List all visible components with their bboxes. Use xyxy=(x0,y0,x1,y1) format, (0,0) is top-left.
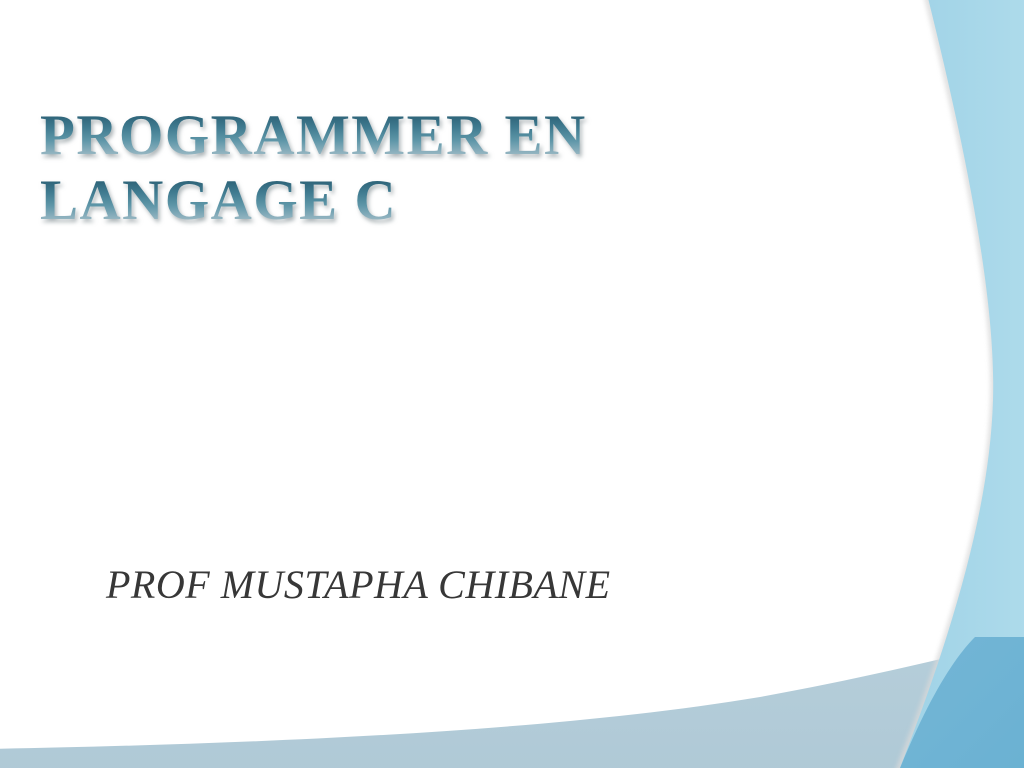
title-slide: PROGRAMMER EN LANGAGE C PROF MUSTAPHA CH… xyxy=(0,0,1024,768)
right-curved-band xyxy=(892,0,1024,768)
page-title: PROGRAMMER EN LANGAGE C xyxy=(40,108,680,238)
subtitle-author: PROF MUSTAPHA CHIBANE xyxy=(106,561,611,608)
bottom-right-corner-wedge xyxy=(896,637,1024,768)
bottom-curved-band xyxy=(0,637,1024,768)
title-line-1: PROGRAMMER EN xyxy=(40,108,680,164)
title-line-2: LANGAGE C xyxy=(40,173,680,229)
